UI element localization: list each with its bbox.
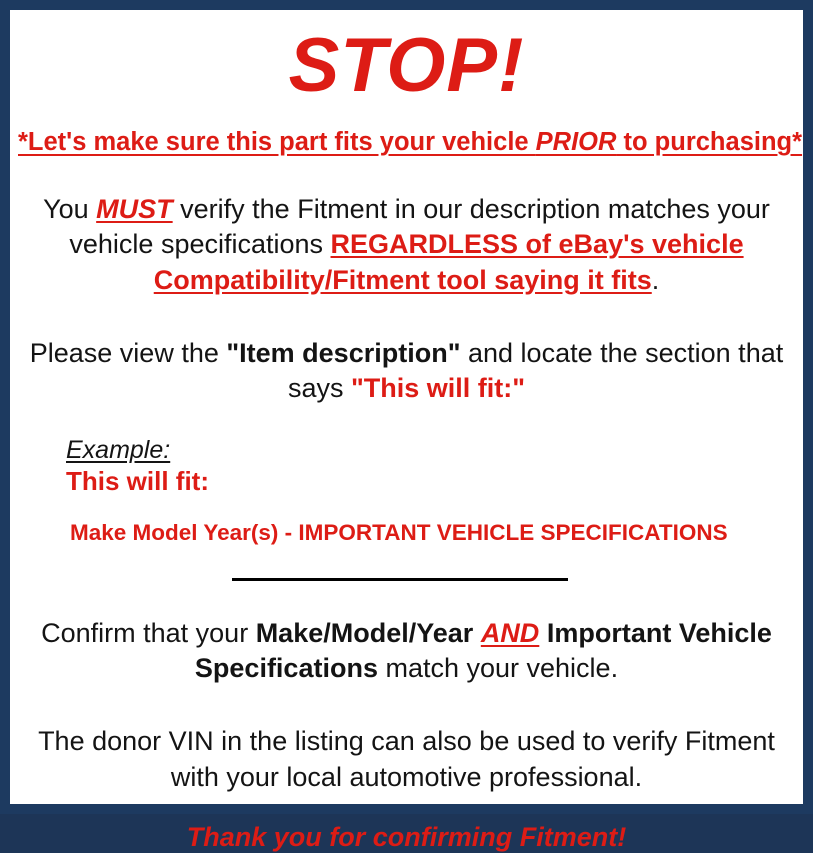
must-part1: You xyxy=(43,194,96,224)
confirm-part1: Confirm that your xyxy=(41,618,256,648)
and-emphasis: AND xyxy=(481,618,540,648)
example-fit-header: This will fit: xyxy=(66,465,795,497)
tagline: *Let's make sure this part fits your veh… xyxy=(18,104,795,157)
confirm-part2 xyxy=(473,618,481,648)
example-block: Example: This will fit: Make Model Year(… xyxy=(18,406,795,547)
notice-content-area: STOP! *Let's make sure this part fits yo… xyxy=(10,10,803,804)
confirm-part4: match your vehicle. xyxy=(378,653,618,683)
must-emphasis: MUST xyxy=(96,194,173,224)
paragraph-view-description: Please view the "Item description" and l… xyxy=(18,298,795,406)
make-model-year-emphasis: Make/Model/Year xyxy=(256,618,474,648)
example-label-row: Example: xyxy=(66,436,795,465)
tagline-emphasis-prior: PRIOR xyxy=(536,128,617,156)
example-label: Example: xyxy=(66,436,170,465)
section-divider xyxy=(232,578,568,581)
example-spec-line: Make Model Year(s) - IMPORTANT VEHICLE S… xyxy=(66,496,795,546)
confirm-part3 xyxy=(539,618,547,648)
view-part1: Please view the xyxy=(30,338,227,368)
item-description-emphasis: "Item description" xyxy=(226,338,460,368)
paragraph-must-verify: You MUST verify the Fitment in our descr… xyxy=(18,157,795,297)
must-part3: . xyxy=(652,265,660,295)
tagline-before: *Let's make sure this part fits your veh… xyxy=(18,128,536,156)
thank-you-line: Thank you for confirming Fitment! xyxy=(18,795,795,853)
fitment-notice-card: STOP! *Let's make sure this part fits yo… xyxy=(0,0,813,814)
this-will-fit-emphasis: "This will fit:" xyxy=(351,373,525,403)
paragraph-confirm: Confirm that your Make/Model/Year AND Im… xyxy=(18,586,795,686)
paragraph-donor-vin: The donor VIN in the listing can also be… xyxy=(18,686,795,794)
divider-wrap xyxy=(18,546,795,586)
tagline-after: to purchasing* xyxy=(616,128,802,156)
stop-heading: STOP! xyxy=(18,10,795,104)
